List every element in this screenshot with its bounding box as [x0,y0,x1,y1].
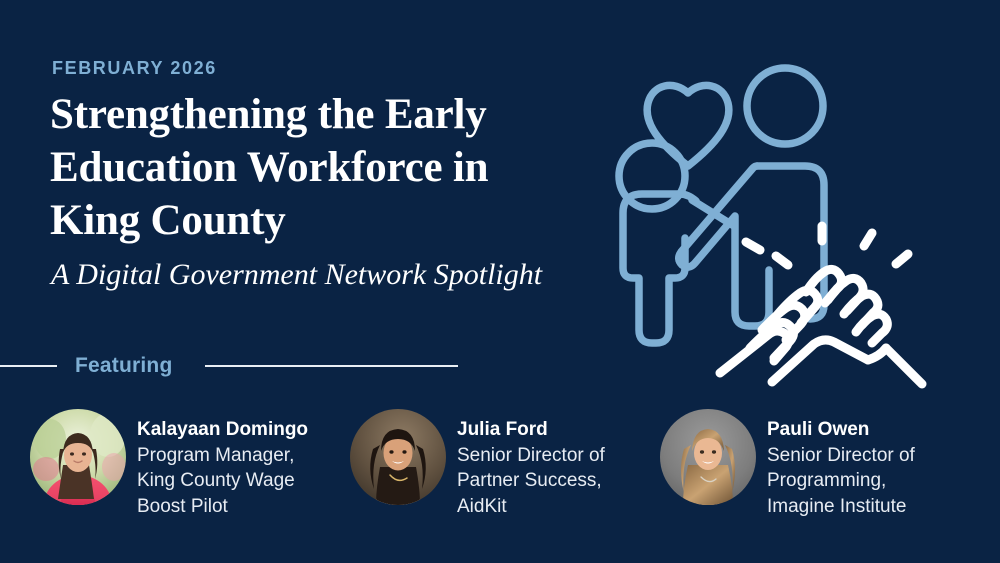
speaker-card: Kalayaan Domingo Program Manager, King C… [30,405,340,519]
speaker-role: Senior Director of Programming, Imagine … [767,443,915,520]
avatar-kalayaan-domingo [30,409,126,505]
speaker-role-line: Imagine Institute [767,494,915,520]
speaker-name: Julia Ford [457,417,605,443]
child-body-icon [623,194,696,343]
caregiver-child-handshake-illustration [600,48,990,403]
speaker-info: Pauli Owen Senior Director of Programmin… [767,405,915,519]
speaker-role-line: AidKit [457,494,605,520]
speaker-role-line: Program Manager, [137,443,308,469]
eyebrow-date: FEBRUARY 2026 [52,58,217,79]
divider-rule-right [205,365,458,367]
featuring-divider: Featuring [0,352,470,380]
speaker-info: Julia Ford Senior Director of Partner Su… [457,405,605,519]
divider-rule-left [0,365,57,367]
page-title: Strengthening the Early Education Workfo… [50,88,610,247]
headline-line-2: Education Workforce in [50,141,610,194]
speaker-role-line: Partner Success, [457,468,605,494]
featuring-label: Featuring [75,352,172,379]
speaker-role-line: Senior Director of [767,443,915,469]
speaker-name: Kalayaan Domingo [137,417,308,443]
speaker-role-line: Boost Pilot [137,494,308,520]
promo-banner: FEBRUARY 2026 Strengthening the Early Ed… [0,0,1000,563]
speaker-role-line: Senior Director of [457,443,605,469]
headline-line-1: Strengthening the Early [50,88,610,141]
child-arm-icon [692,200,734,226]
speaker-role-line: King County Wage [137,468,308,494]
speaker-name: Pauli Owen [767,417,915,443]
speaker-card: Pauli Owen Senior Director of Programmin… [660,405,980,519]
avatar-pauli-owen [660,409,756,505]
speaker-info: Kalayaan Domingo Program Manager, King C… [137,405,308,519]
speaker-role-line: Programming, [767,468,915,494]
speaker-role: Program Manager, King County Wage Boost … [137,443,308,520]
subtitle: A Digital Government Network Spotlight [51,258,542,292]
adult-head-icon [747,68,823,144]
heart-outline-icon [647,85,729,166]
speaker-card: Julia Ford Senior Director of Partner Su… [350,405,650,519]
avatar-julia-ford [350,409,446,505]
speaker-list: Kalayaan Domingo Program Manager, King C… [0,405,1000,535]
speaker-role: Senior Director of Partner Success, AidK… [457,443,605,520]
headline-line-3: King County [50,194,610,247]
